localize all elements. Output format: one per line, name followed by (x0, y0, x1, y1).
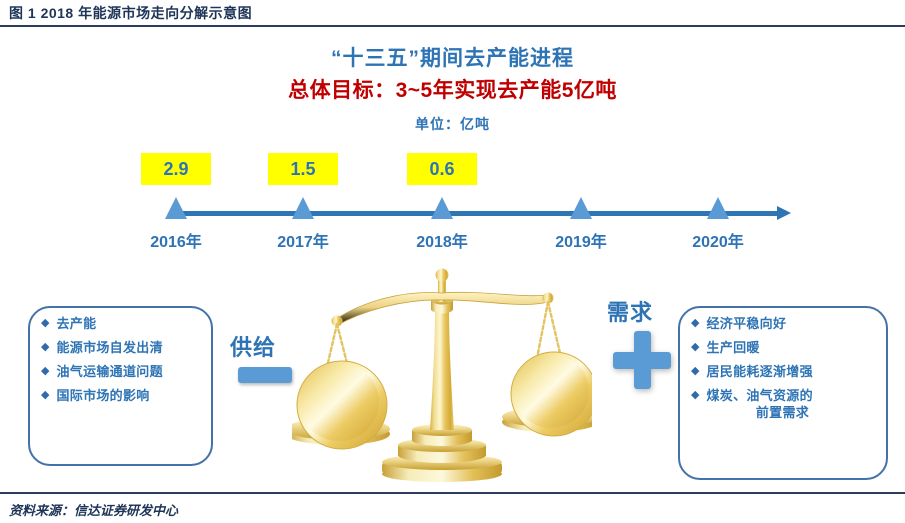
list-item: ◆ 煤炭、油气资源的 (680, 380, 886, 404)
list-item-continuation: ◆ 前置需求 (680, 404, 886, 421)
demand-bullet-label: 经济平稳向好 (706, 315, 786, 332)
demand-bullet-label: 煤炭、油气资源的 (706, 387, 812, 404)
demand-bullet-label: 前置需求 (706, 404, 858, 421)
timeline-value-box: 0.6 (407, 153, 477, 185)
list-item: ◆ 能源市场自发出清 (30, 332, 211, 356)
diamond-bullet-icon: ◆ (691, 315, 699, 332)
timeline-year-label: 2017年 (248, 228, 358, 252)
demand-factors-box: ◆ 经济平稳向好 ◆ 生产回暖 ◆ 居民能耗逐渐增强 ◆ 煤炭、油气资源的 ◆ … (678, 306, 888, 480)
timeline-tick-marker-icon (570, 197, 592, 219)
timeline-chart: 2.9 1.5 0.6 2016年 2017年 2018年 2019年 2020… (0, 148, 905, 253)
figure-footer-bar: 资料来源：信达证券研发中心 (0, 492, 905, 523)
supply-bullet-label: 去产能 (56, 315, 96, 332)
list-item: ◆ 去产能 (30, 308, 211, 332)
timeline-tick-marker-icon (165, 197, 187, 219)
supply-bullet-label: 能源市场自发出清 (56, 339, 162, 356)
list-item: ◆ 油气运输通道问题 (30, 356, 211, 380)
list-item: ◆ 生产回暖 (680, 332, 886, 356)
figure-header-bar: 图 1 2018 年能源市场走向分解示意图 (0, 0, 905, 27)
plus-sign-icon (613, 331, 671, 389)
supply-bullet-label: 国际市场的影响 (56, 387, 149, 404)
demand-bullet-label: 生产回暖 (706, 339, 759, 356)
demand-bullet-label: 居民能耗逐渐增强 (706, 363, 812, 380)
timeline-year-label: 2018年 (387, 228, 497, 252)
minus-sign-icon (238, 367, 292, 383)
diamond-bullet-icon: ◆ (41, 387, 49, 404)
diamond-bullet-icon: ◆ (41, 363, 49, 380)
diamond-bullet-icon: ◆ (41, 315, 49, 332)
timeline-year-label: 2019年 (526, 228, 636, 252)
timeline-tick-marker-icon (707, 197, 729, 219)
timeline-year-label: 2020年 (663, 228, 773, 252)
demand-label: 需求 (607, 295, 653, 327)
timeline-tick-marker-icon (431, 197, 453, 219)
timeline-axis-line (169, 211, 779, 216)
chart-title: “十三五”期间去产能进程 (0, 42, 905, 72)
list-item: ◆ 经济平稳向好 (680, 308, 886, 332)
diamond-bullet-icon: ◆ (691, 339, 699, 356)
figure-caption: 图 1 2018 年能源市场走向分解示意图 (9, 3, 252, 23)
timeline-tick-marker-icon (292, 197, 314, 219)
timeline-year-label: 2016年 (121, 228, 231, 252)
list-item: ◆ 国际市场的影响 (30, 380, 211, 404)
supply-label: 供给 (230, 330, 276, 362)
source-note: 资料来源：信达证券研发中心 (9, 500, 178, 519)
timeline-arrow-head-icon (777, 206, 791, 220)
timeline-value-box: 2.9 (141, 153, 211, 185)
timeline-value-box: 1.5 (268, 153, 338, 185)
diamond-bullet-icon: ◆ (691, 387, 699, 404)
balance-scale-graphic (292, 262, 592, 484)
supply-bullet-label: 油气运输通道问题 (56, 363, 162, 380)
diamond-bullet-icon: ◆ (41, 339, 49, 356)
chart-unit-label: 单位：亿吨 (0, 114, 905, 134)
chart-subtitle-goal: 总体目标：3~5年实现去产能5亿吨 (0, 74, 905, 104)
list-item: ◆ 居民能耗逐渐增强 (680, 356, 886, 380)
supply-factors-box: ◆ 去产能 ◆ 能源市场自发出清 ◆ 油气运输通道问题 ◆ 国际市场的影响 (28, 306, 213, 466)
diamond-bullet-icon: ◆ (691, 363, 699, 380)
